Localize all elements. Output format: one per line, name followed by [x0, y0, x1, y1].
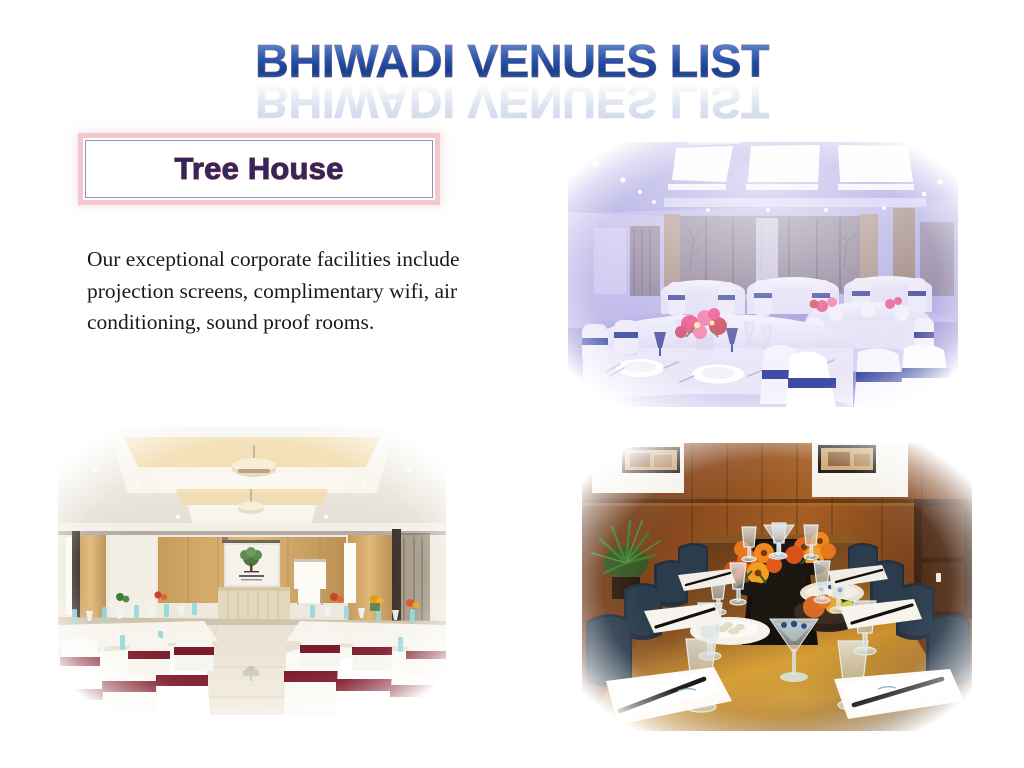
conference-room-illustration [58, 427, 446, 715]
photo-conference-room [58, 427, 446, 715]
venue-name-box: Tree House [85, 140, 433, 198]
boardroom-illustration [582, 443, 972, 731]
banquet-hall-illustration [568, 142, 958, 407]
photo-banquet-hall [568, 142, 958, 407]
photo-boardroom [582, 443, 972, 731]
page-title: BHIWADI VENUES LIST [255, 38, 769, 84]
venue-name: Tree House [174, 151, 343, 187]
slide-title-block: BHIWADI VENUES LIST [0, 38, 1024, 118]
venue-description-text: Our exceptional corporate facilities inc… [87, 244, 487, 339]
venue-description: Our exceptional corporate facilities inc… [87, 244, 487, 339]
